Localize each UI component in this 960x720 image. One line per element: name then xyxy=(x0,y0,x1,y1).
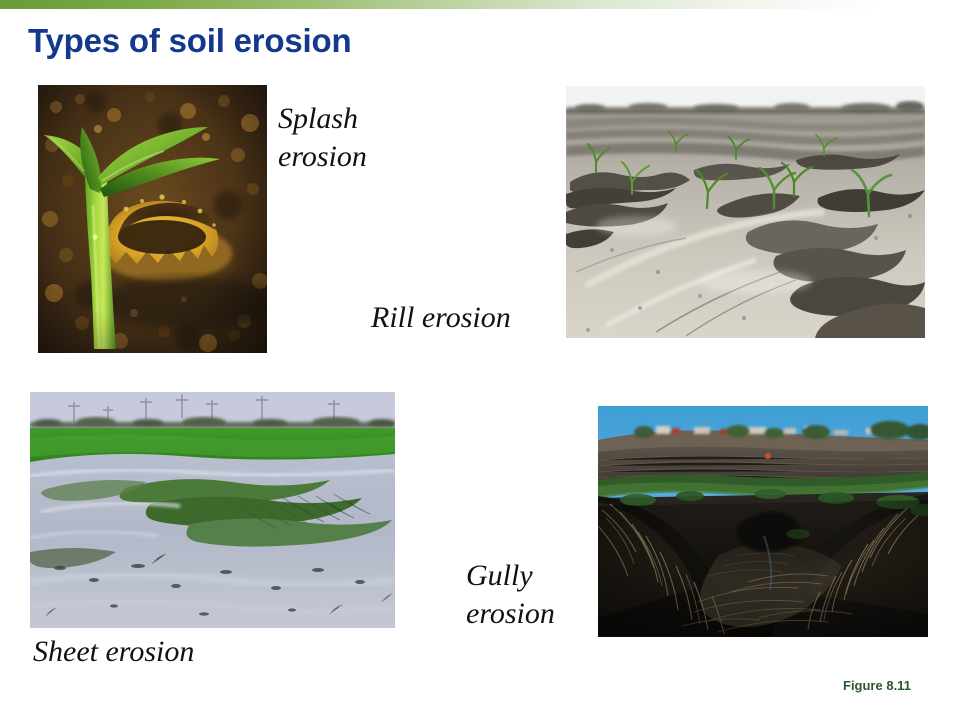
photo-sheet-erosion xyxy=(30,392,395,628)
sheet-erosion-illustration xyxy=(30,392,395,628)
caption-sheet-erosion: Sheet erosion xyxy=(33,633,194,671)
gully-erosion-illustration xyxy=(598,406,928,637)
photo-splash-erosion xyxy=(38,85,267,353)
photo-gully-erosion xyxy=(598,406,928,637)
page-title: Types of soil erosion xyxy=(28,22,351,60)
top-accent-bar xyxy=(0,0,960,9)
caption-splash-erosion: Splash erosion xyxy=(278,100,367,176)
figure-credit: Figure 8.11 xyxy=(843,678,911,693)
splash-erosion-illustration xyxy=(38,85,267,353)
photo-rill-erosion xyxy=(566,86,925,338)
caption-gully-erosion: Gully erosion xyxy=(466,557,555,633)
rill-erosion-illustration xyxy=(566,86,925,338)
caption-rill-erosion: Rill erosion xyxy=(371,299,511,337)
